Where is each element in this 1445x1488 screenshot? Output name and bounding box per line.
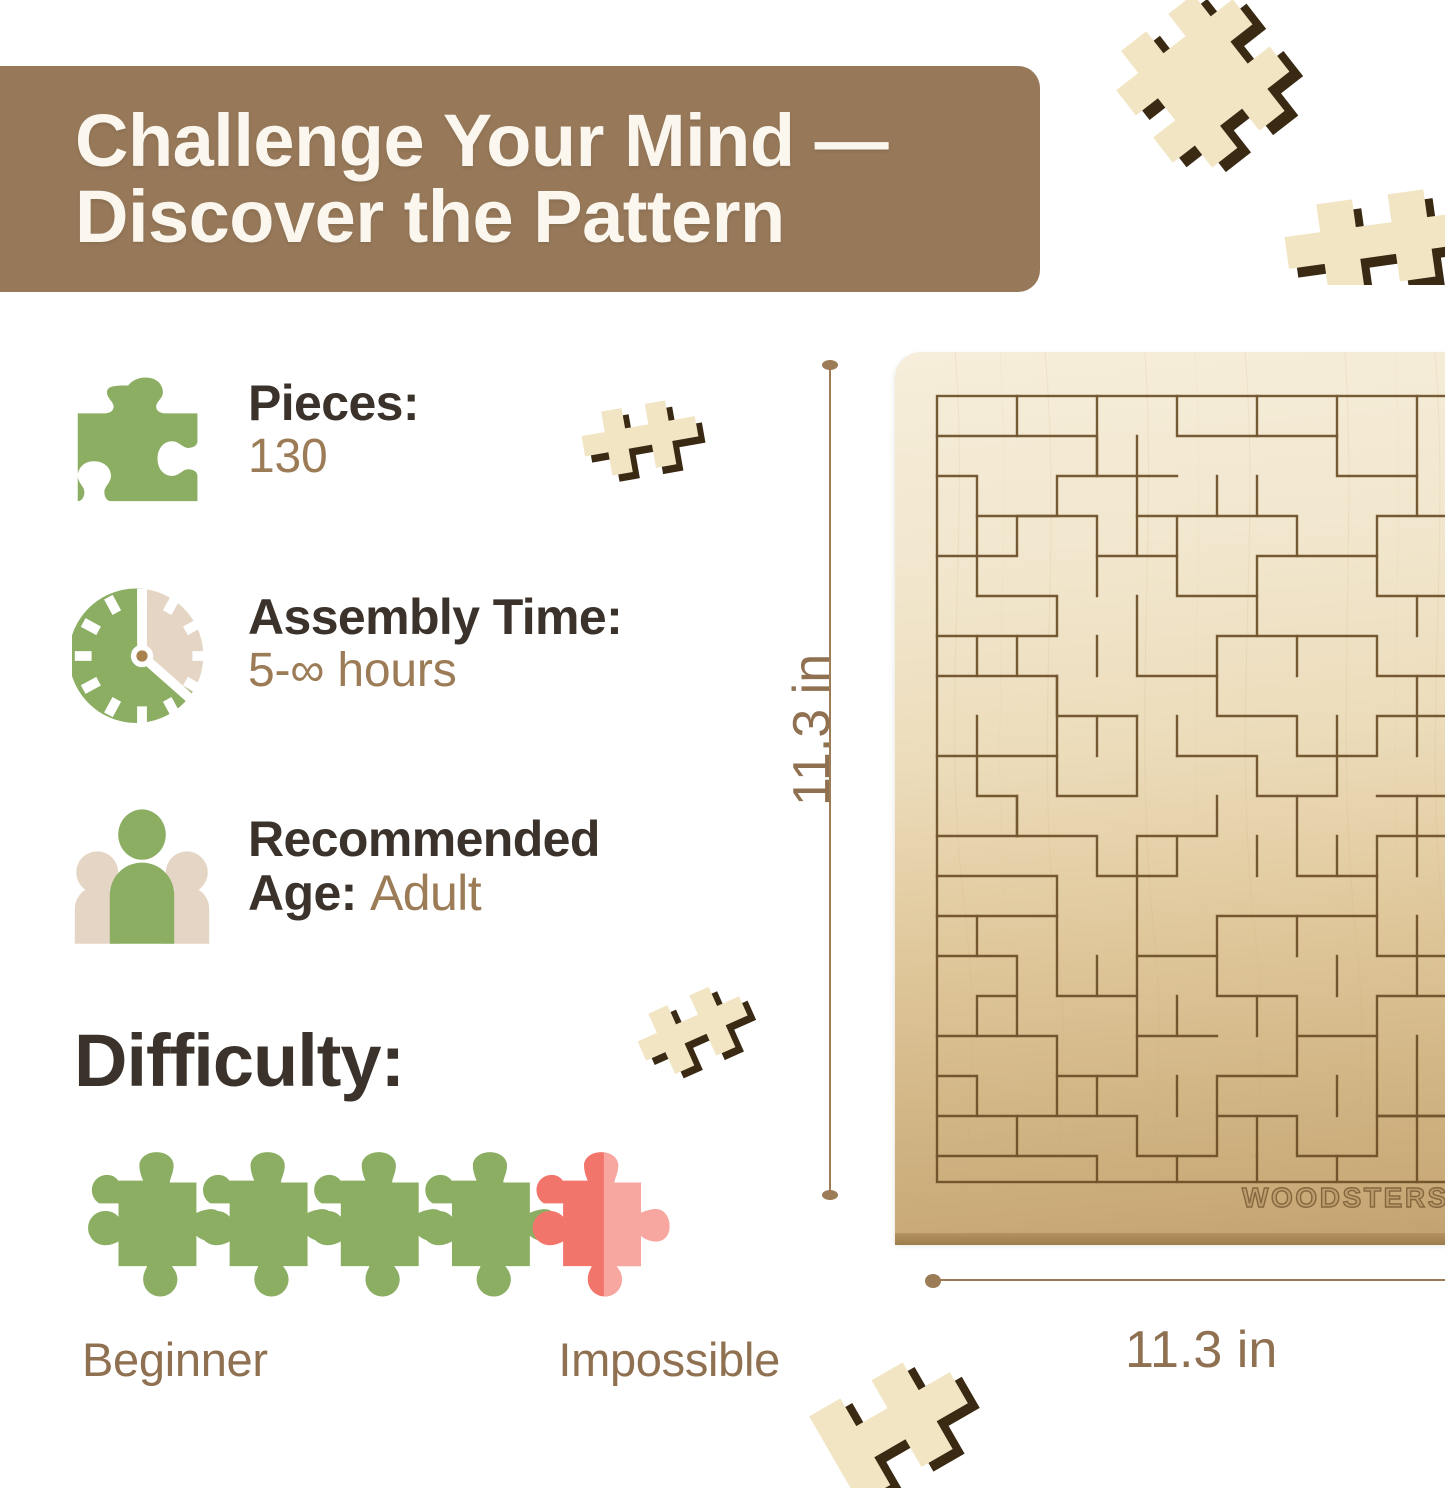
dimension-endpoint-bottom: [822, 1190, 838, 1200]
difficulty-max-label: Impossible: [558, 1332, 780, 1387]
puzzle-board: WOODSTERS: [895, 352, 1445, 1242]
feature-row-recommended-age: Recommended Age: Adult: [72, 808, 600, 953]
feature-text-assembly-time: Assembly Time: 5-∞ hours: [248, 586, 622, 698]
clock-icon: [72, 586, 212, 731]
wooden-puzzle-piece-scatter-4: [622, 968, 787, 1098]
page-title: Challenge Your Mind — Discover the Patte…: [0, 103, 888, 255]
feature-value-pieces: 130: [248, 430, 419, 484]
feature-row-assembly-time: Assembly Time: 5-∞ hours: [72, 586, 622, 731]
difficulty-scale-labels: Beginner Impossible: [60, 1332, 800, 1387]
header-banner: Challenge Your Mind — Discover the Patte…: [0, 66, 1040, 292]
feature-value-assembly-time: 5-∞ hours: [248, 644, 622, 698]
dimension-label-width: 11.3 in: [1125, 1320, 1277, 1380]
infographic-stage: Challenge Your Mind — Discover the Patte…: [0, 0, 1445, 1445]
feature-label-line1: Recommended: [248, 811, 600, 867]
difficulty-meter: [84, 1140, 724, 1320]
feature-label-recommended-age: Recommended Age: Adult: [248, 812, 600, 920]
dimension-line-horizontal: [925, 1272, 1445, 1288]
dimension-label-height: 11.3 in: [782, 654, 842, 806]
feature-value-recommended-age: Adult: [370, 865, 481, 921]
feature-text-recommended-age: Recommended Age: Adult: [248, 808, 600, 920]
wooden-puzzle-piece-scatter-3: [568, 382, 743, 497]
maze-pattern: [895, 352, 1445, 1242]
difficulty-heading: Difficulty:: [74, 1018, 404, 1103]
puzzle-piece-icon: [72, 372, 212, 517]
feature-row-pieces: Pieces: 130: [72, 372, 419, 517]
dimension-endpoint-left: [925, 1274, 941, 1288]
feature-label-line2: Age:: [248, 865, 357, 921]
wooden-puzzle-piece-scatter-2: [1275, 155, 1445, 285]
feature-label-pieces: Pieces:: [248, 376, 419, 430]
feature-label-assembly-time: Assembly Time:: [248, 590, 622, 644]
dimension-line-stroke-horizontal: [931, 1279, 1445, 1281]
wooden-puzzle-piece-scatter-5: [800, 1318, 1030, 1488]
people-group-icon: [72, 808, 212, 953]
difficulty-piece-5: [533, 1152, 670, 1296]
brand-logo: WOODSTERS: [1242, 1182, 1445, 1214]
feature-text-pieces: Pieces: 130: [248, 372, 419, 484]
board-bottom-edge: [895, 1233, 1445, 1245]
difficulty-min-label: Beginner: [82, 1332, 268, 1387]
